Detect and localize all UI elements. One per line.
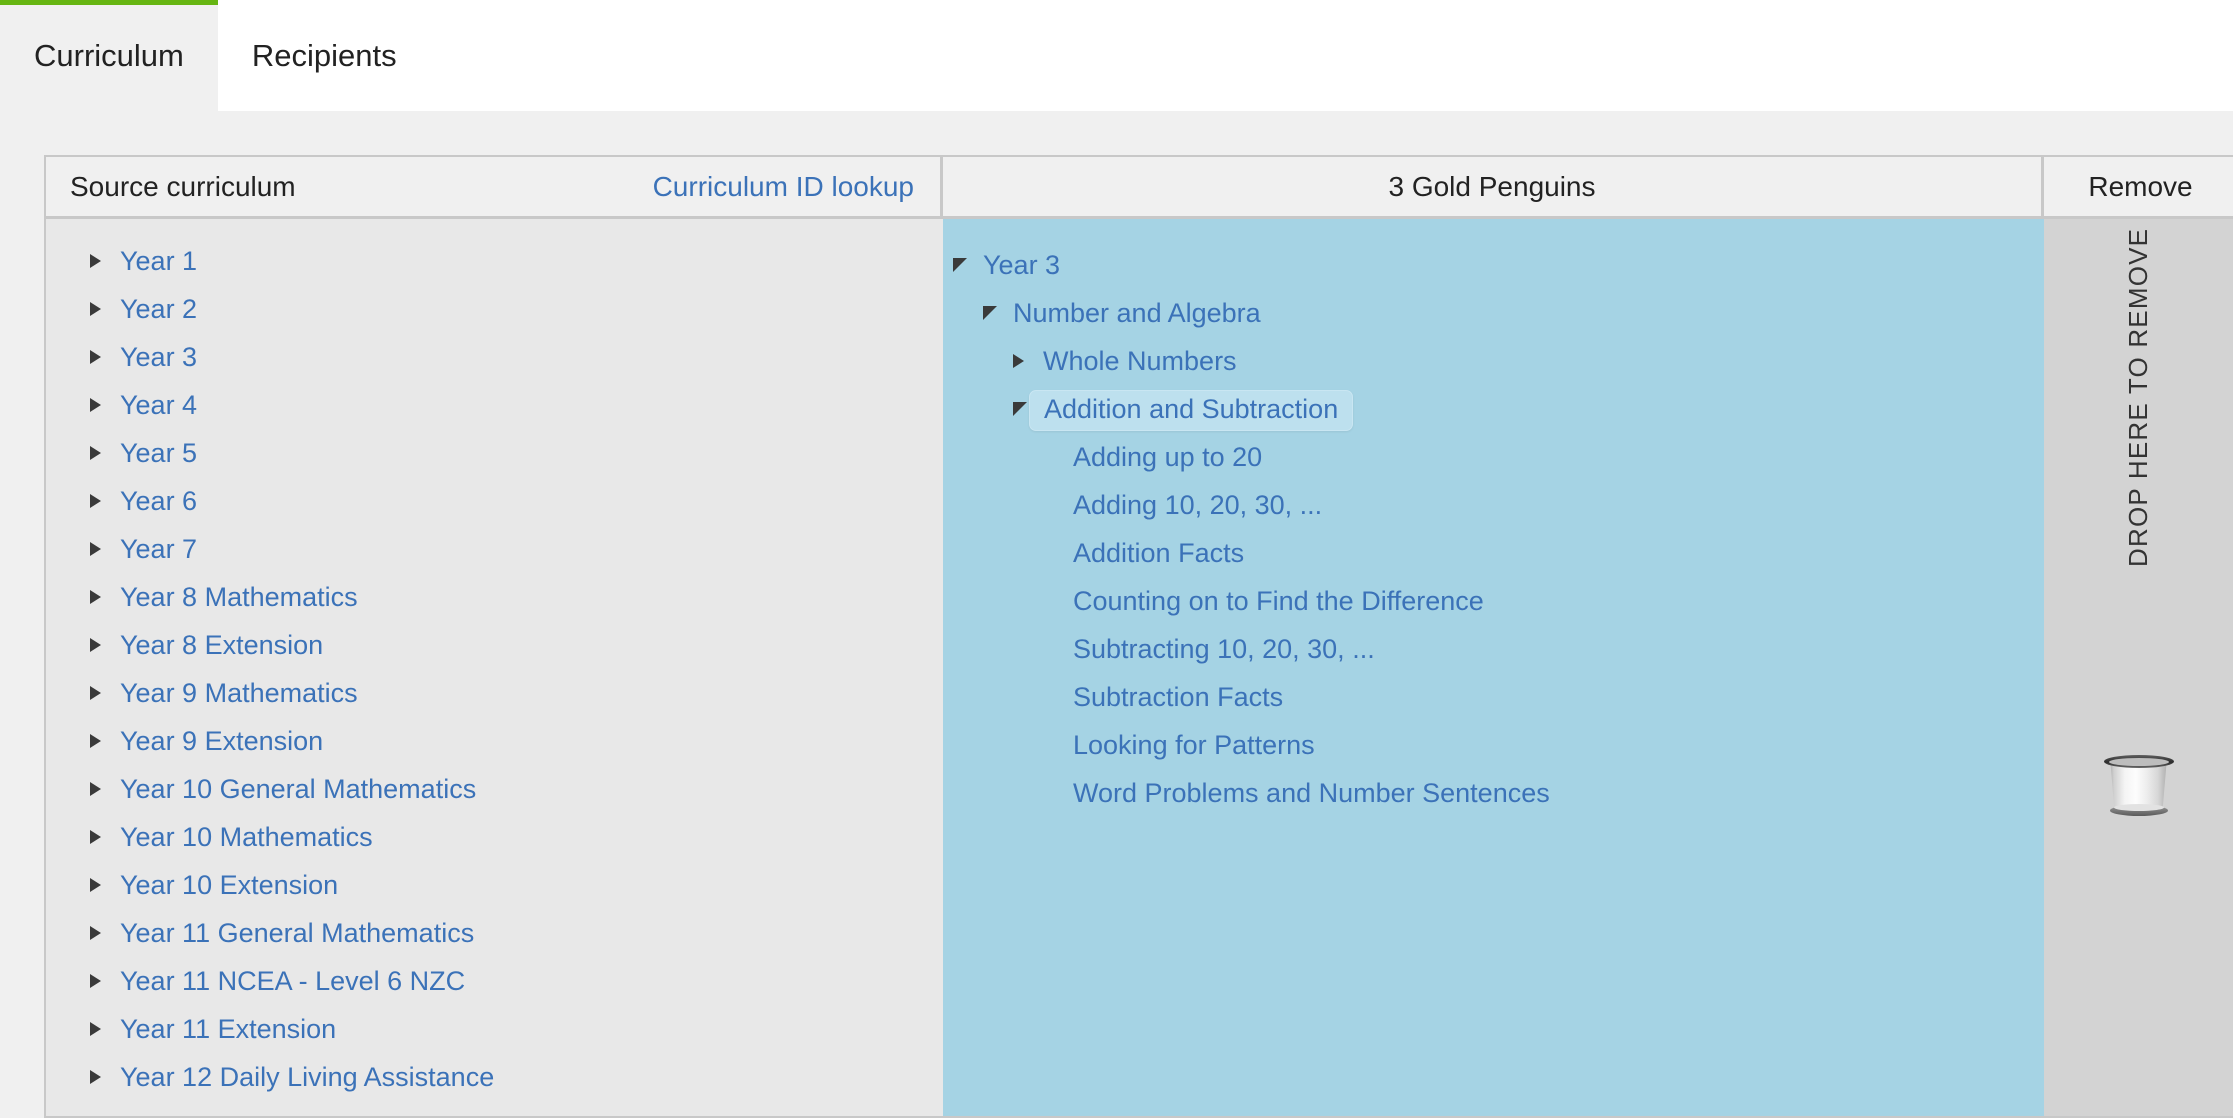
- expanded-triangle-icon[interactable]: [953, 258, 983, 272]
- tree-item-label: Year 3: [983, 252, 1060, 279]
- collapsed-triangle-icon[interactable]: [90, 830, 120, 844]
- tree-item[interactable]: Whole Numbers: [943, 337, 2044, 385]
- tree-item-label: Year 7: [120, 536, 197, 563]
- collapsed-triangle-icon[interactable]: [90, 350, 120, 364]
- tree-item[interactable]: Word Problems and Number Sentences: [943, 769, 2044, 817]
- collapsed-triangle-icon[interactable]: [90, 302, 120, 316]
- tab-strip-filler: [431, 0, 2233, 111]
- tree-item[interactable]: Year 11 NCEA - Level 6 NZC: [46, 957, 943, 1005]
- tree-item-label: Subtracting 10, 20, 30, ...: [1073, 636, 1375, 663]
- expanded-triangle-icon[interactable]: [983, 306, 1013, 320]
- tree-item[interactable]: Counting on to Find the Difference: [943, 577, 2044, 625]
- collapsed-triangle-icon[interactable]: [90, 398, 120, 412]
- tree-item-label: Addition and Subtraction: [1029, 390, 1353, 431]
- tree-item[interactable]: Year 10 General Mathematics: [46, 765, 943, 813]
- curriculum-assignment-panel: Source curriculum Curriculum ID lookup 3…: [44, 155, 2233, 1118]
- collapsed-triangle-icon[interactable]: [90, 782, 120, 796]
- tree-item-label: Word Problems and Number Sentences: [1073, 780, 1550, 807]
- collapsed-triangle-icon[interactable]: [90, 686, 120, 700]
- tree-item[interactable]: Adding 10, 20, 30, ...: [943, 481, 2044, 529]
- tree-item[interactable]: Number and Algebra: [943, 289, 2044, 337]
- tree-item-label: Year 11 Extension: [120, 1016, 336, 1043]
- table-header-row: Source curriculum Curriculum ID lookup 3…: [46, 157, 2233, 219]
- tree-item-label: Year 10 Extension: [120, 872, 338, 899]
- curriculum-id-lookup-link[interactable]: Curriculum ID lookup: [653, 171, 914, 203]
- tree-item-label: Year 11 NCEA - Level 6 NZC: [120, 968, 465, 995]
- tree-item-label: Addition Facts: [1073, 540, 1244, 567]
- tree-item-label: Year 10 General Mathematics: [120, 776, 476, 803]
- collapsed-triangle-icon[interactable]: [90, 1022, 120, 1036]
- tree-item-label: Counting on to Find the Difference: [1073, 588, 1484, 615]
- tree-item-label: Subtraction Facts: [1073, 684, 1283, 711]
- tab-curriculum-label: Curriculum: [34, 38, 184, 74]
- tree-item-label: Year 1: [120, 248, 197, 275]
- collapsed-triangle-icon[interactable]: [90, 494, 120, 508]
- tree-item-label: Year 8 Mathematics: [120, 584, 358, 611]
- tree-item-label: Year 9 Mathematics: [120, 680, 358, 707]
- collapsed-triangle-icon[interactable]: [90, 974, 120, 988]
- tree-item-label: Year 4: [120, 392, 197, 419]
- tree-item-label: Number and Algebra: [1013, 300, 1261, 327]
- collapsed-triangle-icon[interactable]: [90, 542, 120, 556]
- tree-item-label: Year 10 Mathematics: [120, 824, 373, 851]
- tree-item[interactable]: Year 6: [46, 477, 943, 525]
- collapsed-triangle-icon[interactable]: [1013, 354, 1043, 368]
- tab-curriculum[interactable]: Curriculum: [0, 0, 218, 111]
- tree-item-label: Year 8 Extension: [120, 632, 323, 659]
- tree-item[interactable]: Year 1: [46, 237, 943, 285]
- tree-item-label: Year 9 Extension: [120, 728, 323, 755]
- tree-item[interactable]: Subtracting 10, 20, 30, ...: [943, 625, 2044, 673]
- tree-item[interactable]: Year 4: [46, 381, 943, 429]
- tree-item[interactable]: Year 5: [46, 429, 943, 477]
- tree-item[interactable]: Subtraction Facts: [943, 673, 2044, 721]
- tree-item-label: Year 5: [120, 440, 197, 467]
- tree-item[interactable]: Year 10 Extension: [46, 861, 943, 909]
- collapsed-triangle-icon[interactable]: [90, 638, 120, 652]
- header-source-curriculum-label: Source curriculum: [70, 171, 296, 203]
- tree-item-label: Looking for Patterns: [1073, 732, 1315, 759]
- tree-item[interactable]: Addition Facts: [943, 529, 2044, 577]
- assigned-curriculum-tree[interactable]: Year 3 Number and Algebra Whole Numbers …: [943, 219, 2044, 1116]
- collapsed-triangle-icon[interactable]: [90, 734, 120, 748]
- tree-item[interactable]: Year 10 Mathematics: [46, 813, 943, 861]
- tree-item-label: Year 2: [120, 296, 197, 323]
- header-target-group-label: 3 Gold Penguins: [1388, 171, 1595, 203]
- tab-strip: Curriculum Recipients: [0, 0, 2233, 111]
- tree-item[interactable]: Year 3: [943, 241, 2044, 289]
- remove-drop-zone[interactable]: DROP HERE TO REMOVE: [2044, 219, 2233, 1116]
- header-target-group: 3 Gold Penguins: [943, 157, 2044, 216]
- collapsed-triangle-icon[interactable]: [90, 446, 120, 460]
- tree-item[interactable]: Year 8 Extension: [46, 621, 943, 669]
- tree-item[interactable]: Year 7: [46, 525, 943, 573]
- tree-item[interactable]: Year 8 Mathematics: [46, 573, 943, 621]
- tree-item[interactable]: Year 2: [46, 285, 943, 333]
- trash-can-icon: [2102, 749, 2176, 817]
- tab-recipients-label: Recipients: [252, 38, 397, 74]
- tree-item-label: Year 6: [120, 488, 197, 515]
- collapsed-triangle-icon[interactable]: [90, 926, 120, 940]
- source-curriculum-tree[interactable]: Year 1 Year 2 Year 3 Year 4 Year 5: [46, 219, 943, 1116]
- drop-here-to-remove-label: DROP HERE TO REMOVE: [2123, 378, 2154, 567]
- tree-item-label: Adding up to 20: [1073, 444, 1262, 471]
- header-remove: Remove: [2044, 157, 2233, 216]
- collapsed-triangle-icon[interactable]: [90, 254, 120, 268]
- tree-item[interactable]: Adding up to 20: [943, 433, 2044, 481]
- tab-recipients[interactable]: Recipients: [218, 0, 431, 111]
- tree-item-selected[interactable]: Addition and Subtraction: [943, 385, 2044, 433]
- tree-item[interactable]: Year 11 Extension: [46, 1005, 943, 1053]
- tree-item-label: Year 12 Daily Living Assistance: [120, 1064, 494, 1091]
- tree-item-label: Adding 10, 20, 30, ...: [1073, 492, 1322, 519]
- collapsed-triangle-icon[interactable]: [90, 878, 120, 892]
- tree-item[interactable]: Year 3: [46, 333, 943, 381]
- collapsed-triangle-icon[interactable]: [90, 590, 120, 604]
- collapsed-triangle-icon[interactable]: [90, 1070, 120, 1084]
- tree-item[interactable]: Looking for Patterns: [943, 721, 2044, 769]
- page-body: Source curriculum Curriculum ID lookup 3…: [0, 111, 2233, 1118]
- tree-item[interactable]: Year 12 Daily Living Assistance: [46, 1053, 943, 1101]
- tree-item[interactable]: Year 9 Extension: [46, 717, 943, 765]
- tree-item[interactable]: Year 11 General Mathematics: [46, 909, 943, 957]
- tree-item-label: Year 3: [120, 344, 197, 371]
- tree-item-label: Whole Numbers: [1043, 348, 1237, 375]
- header-remove-label: Remove: [2088, 171, 2192, 203]
- tree-item-label: Year 11 General Mathematics: [120, 920, 474, 947]
- tree-item[interactable]: Year 9 Mathematics: [46, 669, 943, 717]
- header-source-curriculum: Source curriculum Curriculum ID lookup: [46, 157, 943, 216]
- table-body-row: Year 1 Year 2 Year 3 Year 4 Year 5: [46, 219, 2233, 1116]
